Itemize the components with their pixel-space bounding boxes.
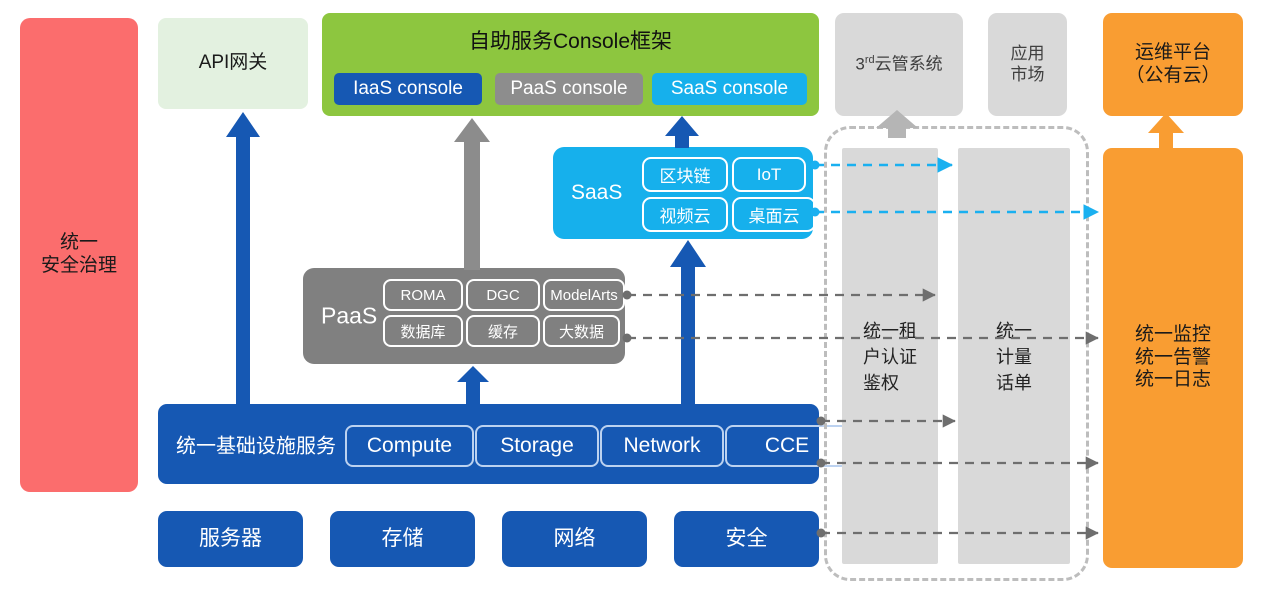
arrow-infra-to-api-gateway [226, 112, 260, 404]
third-party-cloud-mgmt-card: 3rd云管系统 [835, 13, 963, 116]
saas-item-blockchain-label: 区块链 [660, 162, 711, 187]
security-governance-panel: 统一 安全治理 [20, 18, 138, 492]
paas-item-roma[interactable]: ROMA [383, 279, 463, 311]
api-gateway-card: API网关 [158, 18, 308, 109]
paas-item-modelarts[interactable]: ModelArts [543, 279, 625, 311]
resource-item-server[interactable]: 服务器 [158, 511, 303, 567]
resource-item-security-label: 安全 [726, 526, 768, 551]
saas-layer-label: SaaS [571, 181, 622, 205]
arrow-infra-to-saas [670, 240, 706, 404]
infra-item-compute-label: Compute [367, 434, 452, 458]
app-market-card: 应用 市场 [988, 13, 1067, 116]
saas-item-blockchain[interactable]: 区块链 [642, 157, 728, 192]
paas-item-database[interactable]: 数据库 [383, 315, 463, 347]
unified-tenant-auth-label: 统一租 户认证 鉴权 [863, 317, 917, 395]
infrastructure-layer-panel: 统一基础设施服务 Compute Storage Network CCE [158, 404, 819, 484]
paas-console-chip[interactable]: PaaS console [495, 73, 643, 105]
paas-item-cache[interactable]: 缓存 [466, 315, 540, 347]
unified-metering-label: 统一 计量 话单 [996, 317, 1032, 395]
app-market-label: 应用 市场 [1011, 44, 1045, 85]
arrow-saas-to-saas-console [665, 116, 699, 148]
monitoring-label: 统一监控 统一告警 统一日志 [1135, 324, 1211, 392]
iaas-console-label: IaaS console [353, 78, 463, 100]
console-framework-title: 自助服务Console框架 [322, 25, 819, 55]
paas-console-label: PaaS console [510, 78, 627, 100]
security-governance-label: 统一 安全治理 [41, 232, 117, 278]
console-framework-panel: 自助服务Console框架 IaaS console PaaS console … [322, 13, 819, 116]
third-party-cloud-mgmt-label: 3rd云管系统 [855, 54, 942, 75]
saas-item-desktop-cloud[interactable]: 桌面云 [732, 197, 816, 232]
paas-item-dgc[interactable]: DGC [466, 279, 540, 311]
monitoring-panel: 统一监控 统一告警 统一日志 [1103, 148, 1243, 568]
arrow-paas-to-console [454, 118, 490, 270]
infra-item-compute[interactable]: Compute [345, 425, 474, 467]
infra-item-storage[interactable]: Storage [475, 425, 599, 467]
infra-item-storage-label: Storage [500, 434, 574, 458]
infrastructure-layer-label: 统一基础设施服务 [176, 430, 336, 459]
saas-console-label: SaaS console [671, 78, 788, 100]
paas-layer-label: PaaS [321, 303, 377, 330]
ops-platform-label: 运维平台 （公有云） [1125, 42, 1220, 88]
ops-platform-card: 运维平台 （公有云） [1103, 13, 1243, 116]
infra-item-cce-label: CCE [765, 434, 809, 458]
unified-tenant-auth-column: 统一租 户认证 鉴权 [842, 148, 938, 564]
architecture-diagram: 统一 安全治理 API网关 自助服务Console框架 IaaS console… [0, 0, 1265, 605]
paas-layer-panel: PaaS ROMA DGC ModelArts 数据库 缓存 大数据 [303, 268, 625, 364]
paas-item-cache-label: 缓存 [488, 321, 518, 342]
paas-item-bigdata[interactable]: 大数据 [543, 315, 620, 347]
resource-item-storage[interactable]: 存储 [330, 511, 475, 567]
arrow-monitoring-to-ops-platform [1148, 113, 1184, 148]
unified-metering-column: 统一 计量 话单 [958, 148, 1070, 564]
resource-item-network[interactable]: 网络 [502, 511, 647, 567]
arrow-infra-to-paas [457, 366, 489, 406]
saas-layer-panel: SaaS 区块链 IoT 视频云 桌面云 [553, 147, 813, 239]
saas-console-chip[interactable]: SaaS console [652, 73, 807, 105]
saas-item-desktop-cloud-label: 桌面云 [749, 202, 800, 227]
saas-item-video-cloud[interactable]: 视频云 [642, 197, 728, 232]
resource-item-network-label: 网络 [554, 526, 596, 551]
paas-item-database-label: 数据库 [400, 321, 445, 342]
saas-item-iot-label: IoT [757, 165, 782, 185]
resource-item-storage-label: 存储 [382, 526, 424, 551]
paas-item-roma-label: ROMA [401, 287, 446, 304]
api-gateway-label: API网关 [199, 52, 268, 75]
third-party-sup-text: rd [865, 54, 875, 66]
paas-item-bigdata-label: 大数据 [559, 321, 604, 342]
third-party-sup-number: 3 [855, 55, 864, 74]
resource-item-server-label: 服务器 [199, 526, 262, 551]
infra-item-network[interactable]: Network [600, 425, 724, 467]
saas-item-video-cloud-label: 视频云 [660, 202, 711, 227]
paas-item-modelarts-label: ModelArts [550, 287, 618, 304]
iaas-console-chip[interactable]: IaaS console [334, 73, 482, 105]
resource-item-security[interactable]: 安全 [674, 511, 819, 567]
saas-item-iot[interactable]: IoT [732, 157, 806, 192]
paas-item-dgc-label: DGC [486, 287, 519, 304]
third-party-rest: 云管系统 [875, 55, 943, 74]
infra-item-network-label: Network [623, 434, 700, 458]
